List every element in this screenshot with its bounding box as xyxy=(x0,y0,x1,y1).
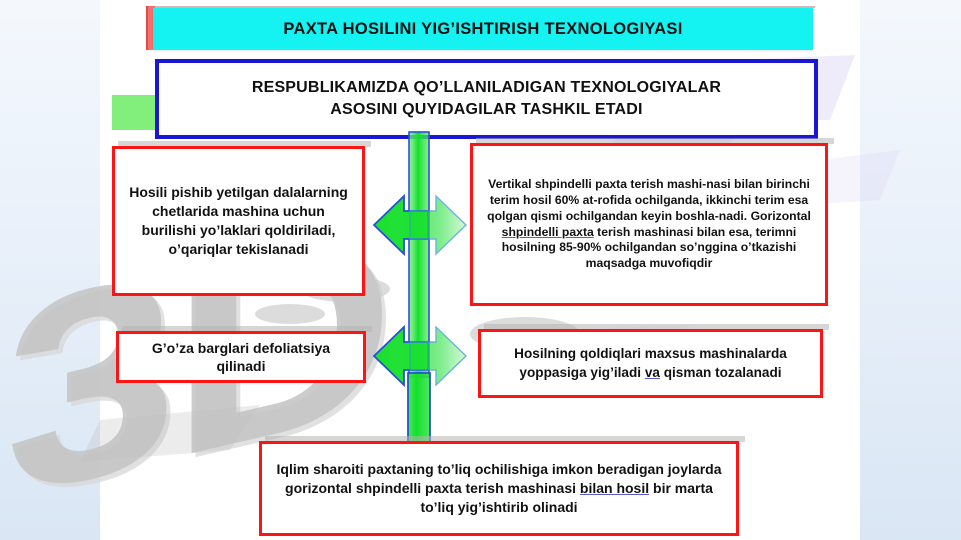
box5-text-underlined: bilan hosil xyxy=(580,480,649,496)
box2-text-before: Vertikal shpindelli paxta terish mashi-n… xyxy=(487,177,811,223)
subtitle-box: RESPUBLIKAMIZDA QO’LLANILADIGAN TEXNOLOG… xyxy=(155,59,818,139)
slide-title-bar: PAXTA HOSILINI YIG’ISHTIRISH TEXNOLOGIYA… xyxy=(153,8,813,50)
content-box-4-text: Hosilning qoldiqlari maxsus mashinalarda… xyxy=(481,341,820,385)
slide-title-text: PAXTA HOSILINI YIG’ISHTIRISH TEXNOLOGIYA… xyxy=(283,20,682,39)
content-box-1-text: Hosili pishib yetilgan dalalarning chetl… xyxy=(115,179,362,263)
green-accent-chip xyxy=(112,95,156,130)
box4-text-underlined: va xyxy=(645,365,660,380)
box4-text-after: qisman tozalanadi xyxy=(660,365,782,380)
content-box-3-text: G’o’za barglari defoliatsiya qilinadi xyxy=(119,335,363,380)
subtitle-line-2: ASOSINI QUYIDAGILAR TASHKIL ETADI xyxy=(330,101,642,118)
content-box-5[interactable]: Iqlim sharoiti paxtaning to’liq ochilish… xyxy=(259,441,739,536)
subtitle-line-1: RESPUBLIKAMIZDA QO’LLANILADIGAN TEXNOLOG… xyxy=(252,79,721,96)
box2-text-underlined: shpindelli paxta xyxy=(502,225,594,239)
slide-canvas: 3D 3D PAXTA HOSILINI YIG’ISHTIRISH TEXNO… xyxy=(0,0,961,540)
content-box-2[interactable]: Vertikal shpindelli paxta terish mashi-n… xyxy=(470,143,828,306)
content-box-3[interactable]: G’o’za barglari defoliatsiya qilinadi xyxy=(116,331,366,383)
content-box-5-text: Iqlim sharoiti paxtaning to’liq ochilish… xyxy=(262,456,736,520)
content-box-4[interactable]: Hosilning qoldiqlari maxsus mashinalarda… xyxy=(478,329,823,398)
content-box-2-text: Vertikal shpindelli paxta terish mashi-n… xyxy=(473,173,825,276)
subtitle-text: RESPUBLIKAMIZDA QO’LLANILADIGAN TEXNOLOG… xyxy=(252,77,721,120)
content-box-1[interactable]: Hosili pishib yetilgan dalalarning chetl… xyxy=(112,146,365,296)
